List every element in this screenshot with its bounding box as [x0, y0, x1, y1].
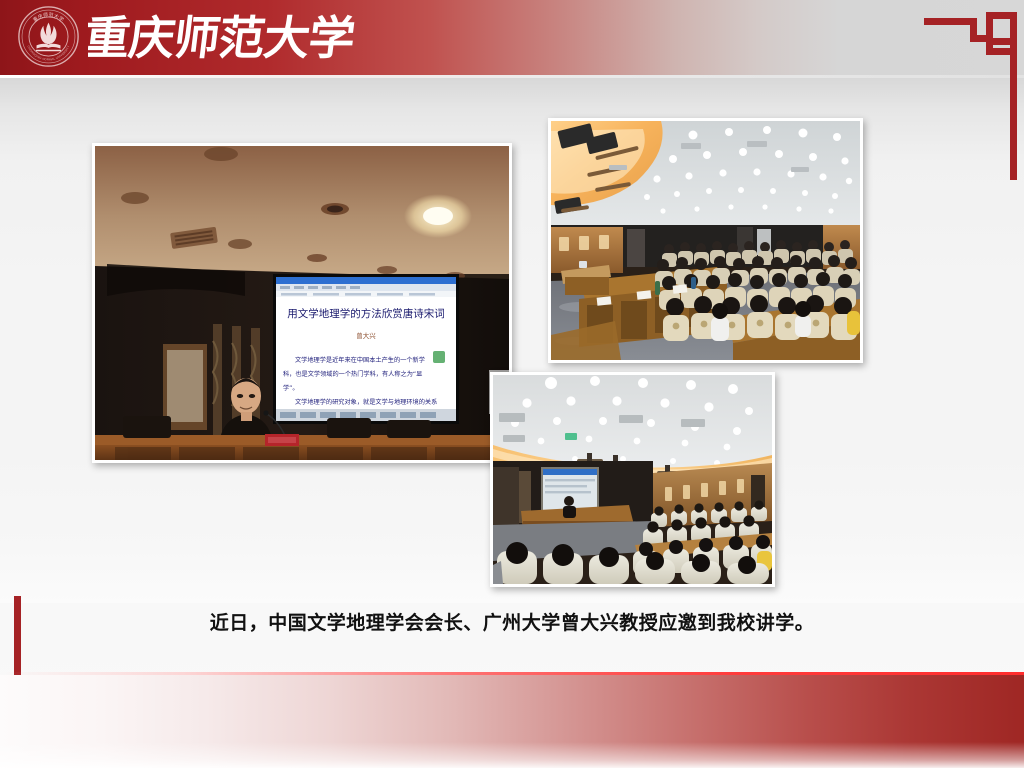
- presentation-slide: 重庆师范大学 CHONGQING NORMAL UNIVERSITY 重庆师范大…: [0, 0, 1024, 768]
- svg-text:用文学地理学的方法欣赏唐诗宋词: 用文学地理学的方法欣赏唐诗宋词: [287, 307, 445, 320]
- photo-lecturer-at-podium: 用文学地理学的方法欣赏唐诗宋词 曾大兴 文学地理学是近年来在中国本土产生的一个新…: [92, 143, 512, 463]
- svg-text:重庆师范大学: 重庆师范大学: [88, 11, 357, 65]
- svg-text:文学地理学的研究对象，就是文学与地理环境的关系: 文学地理学的研究对象，就是文学与地理环境的关系: [295, 398, 437, 406]
- svg-text:文学地理学是近年来在中国本土产生的一个新学: 文学地理学是近年来在中国本土产生的一个新学: [295, 356, 425, 364]
- svg-text:科，也是文学领域的一个热门学科，有人称之为“显: 科，也是文学领域的一个热门学科，有人称之为“显: [283, 370, 422, 378]
- slide-caption: 近日，中国文学地理学会会长、广州大学曾大兴教授应邀到我校讲学。: [0, 608, 1024, 638]
- chinese-fret-corner-ornament-top-right: [924, 0, 1024, 180]
- footer-bottom-fade: [0, 742, 1024, 768]
- university-name-wordmark: 重庆师范大学: [88, 6, 358, 68]
- chongqing-normal-university-emblem: 重庆师范大学 CHONGQING NORMAL UNIVERSITY: [17, 5, 80, 68]
- svg-text:学”。: 学”。: [283, 384, 299, 392]
- photo-audience-seated: [548, 118, 863, 363]
- photo-auditorium-rear-view: [490, 372, 775, 587]
- svg-text:曾大兴: 曾大兴: [356, 331, 376, 340]
